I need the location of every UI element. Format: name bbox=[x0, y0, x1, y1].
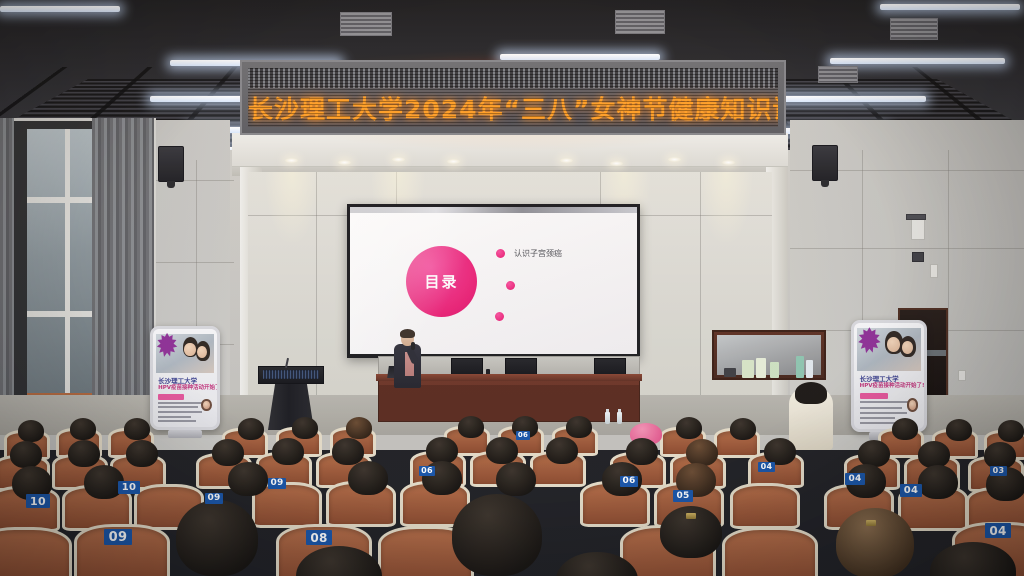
window-glass bbox=[27, 129, 97, 409]
attendee-head bbox=[348, 461, 388, 495]
attendee-head bbox=[238, 418, 264, 440]
poster-avatar bbox=[201, 399, 212, 412]
attendee-head bbox=[676, 417, 702, 439]
seat-number-tag: 05 bbox=[673, 490, 693, 502]
seat-number-tag: 03 bbox=[990, 466, 1007, 476]
attendee-head bbox=[626, 438, 658, 465]
attendee-head bbox=[858, 440, 890, 467]
poster-face bbox=[887, 337, 900, 352]
window-curtain-left[interactable] bbox=[0, 118, 14, 418]
desk-monitor bbox=[594, 358, 626, 375]
poster-face bbox=[184, 343, 195, 356]
presenter-handheld-microphone bbox=[411, 342, 415, 350]
seat-number-tag: 09 bbox=[268, 478, 286, 489]
poster-standee-base-left bbox=[168, 430, 202, 438]
poster-standee-left: 长沙理工大学 HPV疫苗接种活动开始了! bbox=[150, 326, 220, 430]
attendee-head bbox=[546, 437, 578, 464]
seat-number-tag: 06 bbox=[516, 431, 530, 440]
presenter-hair bbox=[400, 329, 415, 338]
seat-number-tag: 04 bbox=[900, 484, 922, 497]
attendee-head bbox=[292, 417, 318, 439]
attendee-head bbox=[566, 416, 592, 438]
poster-subtitle: HPV疫苗接种活动开始了! bbox=[860, 381, 920, 389]
wall-speaker-right bbox=[812, 145, 838, 181]
seat[interactable] bbox=[722, 527, 818, 576]
attendee-head bbox=[892, 418, 918, 440]
seat-number-tag: 06 bbox=[419, 466, 435, 476]
slide-contents-circle: 目录 bbox=[406, 246, 477, 317]
attendee-head bbox=[764, 438, 796, 465]
recessed-downlight bbox=[447, 159, 460, 164]
attendee-head bbox=[176, 500, 258, 576]
attendee-head bbox=[918, 465, 958, 499]
air-vent bbox=[615, 10, 665, 34]
attendee-head bbox=[458, 416, 484, 438]
projection-screen: 目录 认识子宫颈癌 bbox=[350, 207, 637, 354]
poster-standee-right: 长沙理工大学 HPV疫苗接种活动开始了! bbox=[851, 320, 927, 432]
attendee-head bbox=[946, 419, 972, 441]
attendee-head bbox=[124, 418, 150, 440]
seat-number-tag: 04 bbox=[845, 473, 865, 485]
desk-monitor bbox=[451, 358, 483, 375]
attendee-head bbox=[836, 508, 914, 576]
display-cabinet bbox=[712, 330, 826, 380]
led-banner-text: 长沙理工大学2024年“三八”女神节健康知识讲座 bbox=[248, 90, 778, 126]
attendee-head bbox=[18, 420, 44, 442]
led-banner: 长沙理工大学2024年“三八”女神节健康知识讲座 bbox=[240, 60, 786, 135]
poster-subtitle: HPV疫苗接种活动开始了! bbox=[158, 383, 213, 391]
wall-control-panel[interactable] bbox=[911, 218, 925, 240]
projector-mount-plate bbox=[906, 214, 926, 220]
seat-number-tag: 09 bbox=[104, 529, 132, 545]
desk-monitor bbox=[505, 358, 537, 375]
slide-bullet-dot bbox=[506, 281, 515, 290]
wall-mounted-box bbox=[930, 264, 938, 278]
screen-top-bar bbox=[350, 207, 637, 213]
wall-outlet[interactable] bbox=[958, 370, 966, 381]
cabinet-product bbox=[796, 356, 804, 378]
attendee-head bbox=[126, 440, 158, 467]
wall-wash-light bbox=[266, 172, 318, 242]
recessed-downlight bbox=[668, 157, 681, 162]
window-mullion bbox=[65, 129, 70, 409]
lecture-hall-scene: 长沙理工大学2024年“三八”女神节健康知识讲座 目录 认识子宫颈癌 bbox=[0, 0, 1024, 576]
recessed-downlight bbox=[610, 161, 623, 166]
attendee-head bbox=[68, 440, 100, 467]
attendee-head bbox=[918, 441, 950, 468]
attendee-head bbox=[486, 437, 518, 464]
ceiling-light bbox=[0, 6, 120, 12]
air-vent bbox=[818, 66, 858, 83]
lectern-led-display bbox=[263, 370, 319, 379]
attendee-head bbox=[10, 441, 42, 468]
window-mullion bbox=[27, 311, 97, 317]
air-vent bbox=[340, 12, 392, 36]
attendee-head bbox=[272, 438, 304, 465]
seat-number-tag: 10 bbox=[118, 481, 140, 494]
wall-panel-seam bbox=[156, 262, 234, 263]
hair-clip bbox=[686, 513, 696, 519]
recessed-downlight bbox=[392, 157, 405, 162]
screen-glare bbox=[350, 207, 637, 354]
attendee-head bbox=[452, 494, 542, 576]
wall-speaker-left bbox=[158, 146, 184, 182]
recessed-downlight bbox=[285, 158, 298, 163]
hair-clip bbox=[866, 520, 876, 526]
slide-bullet-dot bbox=[496, 249, 505, 258]
attendee-head bbox=[228, 462, 268, 496]
attendee-head bbox=[426, 437, 458, 464]
attendee-head bbox=[332, 438, 364, 465]
cabinet-product bbox=[756, 358, 766, 378]
seat-number-tag: 06 bbox=[620, 476, 638, 487]
slide-heading: 目录 bbox=[406, 271, 477, 292]
led-banner-upper-row bbox=[248, 68, 778, 88]
recessed-downlight bbox=[338, 160, 351, 165]
attendee-hair bbox=[795, 382, 827, 404]
wall-panel-seam bbox=[790, 248, 1024, 249]
attendee-head bbox=[998, 420, 1024, 442]
seat[interactable] bbox=[0, 527, 72, 576]
ceiling-light bbox=[830, 58, 1005, 64]
seat-number-tag: 10 bbox=[26, 494, 50, 508]
air-vent bbox=[890, 18, 938, 40]
cabinet-product bbox=[770, 362, 779, 378]
stage-soffit bbox=[232, 133, 788, 167]
recessed-downlight bbox=[560, 158, 573, 163]
attendee-head bbox=[686, 439, 718, 466]
attendee-head bbox=[346, 417, 372, 439]
attendee-head bbox=[496, 462, 536, 496]
wall-wash-light bbox=[700, 172, 752, 242]
recessed-downlight bbox=[722, 160, 735, 165]
attendee-head bbox=[984, 442, 1016, 469]
window-mullion bbox=[27, 197, 97, 203]
seat[interactable] bbox=[730, 483, 800, 529]
wall-panel-seam bbox=[948, 150, 949, 430]
water-bottle bbox=[605, 412, 610, 424]
slide-bullet-label-1: 认识子宫颈癌 bbox=[514, 248, 562, 259]
seat-number-tag: 08 bbox=[306, 530, 332, 545]
ceiling-light bbox=[880, 4, 1020, 10]
poster-ribbon bbox=[860, 393, 888, 399]
seat-number-tag: 04 bbox=[985, 523, 1011, 538]
cabinet-product bbox=[742, 360, 754, 378]
cabinet-product bbox=[724, 368, 736, 377]
window-curtain-right[interactable] bbox=[92, 118, 154, 418]
water-bottle bbox=[617, 412, 622, 424]
seat-number-tag: 09 bbox=[205, 493, 223, 504]
seat-number-tag: 04 bbox=[758, 462, 775, 472]
attendee-head bbox=[730, 418, 756, 440]
poster-ribbon bbox=[158, 394, 184, 400]
wall-sensor bbox=[912, 252, 924, 262]
projection-screen-frame: 目录 认识子宫颈癌 bbox=[347, 204, 640, 358]
attendee-head bbox=[70, 418, 96, 440]
cabinet-product bbox=[806, 360, 813, 378]
slide-bullet-dot bbox=[495, 312, 504, 321]
attendee-head bbox=[212, 439, 244, 466]
